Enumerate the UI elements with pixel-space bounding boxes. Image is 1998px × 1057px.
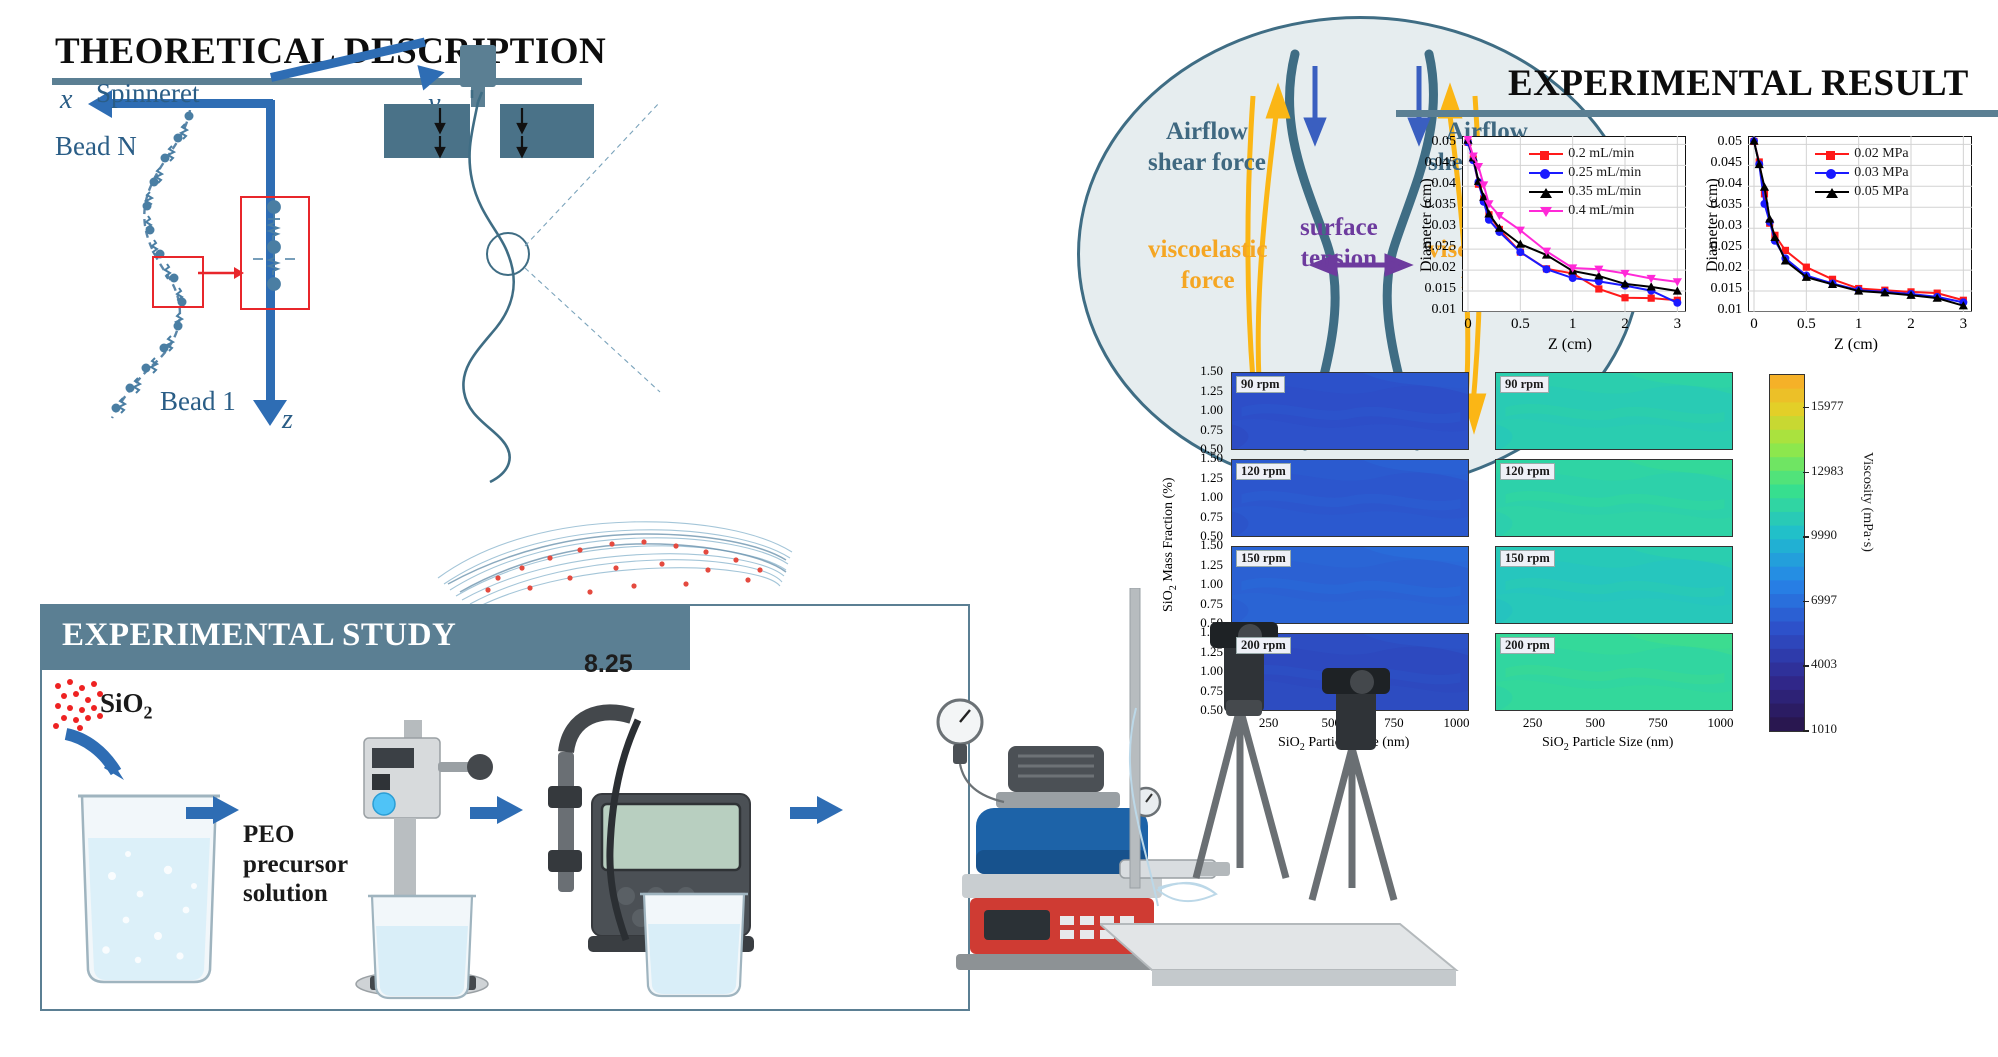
viscosity-colorbar: [1769, 374, 1805, 732]
flow-arrow-3: [817, 796, 843, 824]
legend-label: 0.25 mL/min: [1568, 165, 1641, 181]
legend-marker: [1826, 151, 1835, 160]
contour-panel: 150 rpm: [1495, 546, 1733, 624]
contour-y-tick-label: 1.25: [1179, 383, 1223, 399]
x-tick-label: 2: [1603, 316, 1647, 333]
flow-arrow-1: [213, 796, 239, 824]
colorbar-tick-mark: [1803, 536, 1809, 538]
legend-marker: [1826, 169, 1836, 179]
legend-label: 0.4 mL/min: [1568, 203, 1634, 219]
nanofiber-jet-path: [360, 40, 680, 510]
contour-y-tick-label: 1.50: [1179, 537, 1223, 553]
y-axis-title: Diameter (cm): [1704, 178, 1722, 272]
peo-precursor-solution-label: PEO precursor solution: [243, 820, 348, 909]
bead-zoom-region-box: [152, 256, 204, 308]
legend-line: [1529, 210, 1563, 212]
legend-entry: 0.35 mL/min: [1529, 182, 1641, 201]
x-tick-label: 0.5: [1498, 316, 1542, 333]
flow-arrow-1-bar: [186, 807, 214, 819]
legend-marker: [1540, 188, 1552, 198]
bead-spring-detail-icon: [243, 199, 305, 305]
flow-arrow-2: [497, 796, 523, 824]
spinneret-label: Spinneret: [96, 78, 199, 109]
x-tick-label: 3: [1941, 316, 1985, 333]
legend-line: [1529, 191, 1563, 193]
legend-marker: [1540, 169, 1550, 179]
contour-panel: 90 rpm: [1495, 372, 1733, 450]
experimental-result-section-title: EXPERIMENTAL RESULT: [1508, 62, 1969, 105]
contour-panel-tag: 90 rpm: [1500, 376, 1549, 393]
experimental-study-section-title: EXPERIMENTAL STUDY: [62, 617, 456, 654]
contour-panel-tag: 150 rpm: [1500, 550, 1555, 567]
contour-panel-tag: 90 rpm: [1236, 376, 1285, 393]
legend-label: 0.2 mL/min: [1568, 146, 1634, 162]
y-tick-label: 0.045: [1690, 155, 1742, 171]
legend-line: [1815, 191, 1849, 193]
airflow-shear-force-left-label: Airflowshear force: [1148, 116, 1266, 179]
x-axis-title: Z (cm): [1834, 336, 1878, 354]
flow-arrow-3-bar: [790, 807, 818, 819]
colorbar-title: Viscosity (mPa·s): [1859, 452, 1875, 552]
legend-line: [1815, 172, 1849, 174]
legend-entry: 0.03 MPa: [1815, 163, 1908, 182]
legend-line: [1815, 153, 1849, 155]
contour-panel: 200 rpm: [1495, 633, 1733, 711]
colorbar-tick-label: 15977: [1811, 398, 1844, 414]
contour-x-axis-title: SiO2 Particle Size (nm): [1542, 735, 1673, 753]
ph-meter-reading: 8.25: [584, 650, 633, 679]
colorbar-tick-label: 12983: [1811, 463, 1844, 479]
contour-y-tick-label: 0.75: [1179, 422, 1223, 438]
chart-legend: 0.02 MPa0.03 MPa0.05 MPa: [1815, 144, 1908, 201]
legend-label: 0.02 MPa: [1854, 146, 1908, 162]
colorbar-tick-mark: [1803, 407, 1809, 409]
x-tick-label: 0.5: [1784, 316, 1828, 333]
contour-y-tick-label: 1.00: [1179, 402, 1223, 418]
y-tick-label: 0.05: [1690, 134, 1742, 150]
surface-tension-label: surfacetension: [1300, 212, 1378, 275]
contour-panel-tag: 200 rpm: [1236, 637, 1291, 654]
x-tick-label: 1: [1837, 316, 1881, 333]
sio2-label: SiO2: [100, 688, 153, 723]
nanofiber-mat-illustration: [430, 500, 800, 615]
y-tick-label: 0.015: [1404, 281, 1456, 297]
axis-x-label: x: [60, 84, 72, 116]
contour-x-tick-label: 750: [1632, 715, 1684, 731]
contour-x-tick-label: 500: [1569, 715, 1621, 731]
contour-y-tick-label: 1.25: [1179, 470, 1223, 486]
legend-line: [1529, 172, 1563, 174]
colorbar-tick-mark: [1803, 601, 1809, 603]
legend-label: 0.03 MPa: [1854, 165, 1908, 181]
x-tick-label: 0: [1732, 316, 1776, 333]
colorbar-tick-label: 6997: [1811, 592, 1837, 608]
legend-marker: [1540, 207, 1552, 217]
axis-z-label: z: [282, 404, 293, 436]
experimental-result-title-rule: [1396, 110, 1998, 117]
legend-marker: [1826, 188, 1838, 198]
chart-legend: 0.2 mL/min0.25 mL/min0.35 mL/min0.4 mL/m…: [1529, 144, 1641, 220]
contour-y-tick-label: 0.75: [1179, 509, 1223, 525]
contour-panel-tag: 150 rpm: [1236, 550, 1291, 567]
colorbar-tick-mark: [1803, 730, 1809, 732]
ph-beaker: [634, 890, 754, 1010]
contour-panel: 90 rpm: [1231, 372, 1469, 450]
legend-entry: 0.02 MPa: [1815, 144, 1908, 163]
x-tick-label: 2: [1889, 316, 1933, 333]
y-tick-label: 0.015: [1690, 281, 1742, 297]
x-tick-label: 1: [1551, 316, 1595, 333]
chart-diameter-vs-z-flowrate: 0.010.0150.020.0250.030.0350.040.0450.05…: [1404, 128, 1694, 358]
contour-x-tick-label: 250: [1507, 715, 1559, 731]
contour-y-tick-label: 1.50: [1179, 363, 1223, 379]
bead-zoom-detail-box: [240, 196, 310, 310]
contour-panel-tag: 200 rpm: [1500, 637, 1555, 654]
legend-entry: 0.2 mL/min: [1529, 144, 1641, 163]
contour-panel: 120 rpm: [1231, 459, 1469, 537]
mixing-arrow-icon: [60, 728, 130, 784]
chart-diameter-vs-z-pressure: 0.010.0150.020.0250.030.0350.040.0450.05…: [1690, 128, 1980, 358]
contour-y-tick-label: 1.00: [1179, 489, 1223, 505]
legend-label: 0.05 MPa: [1854, 184, 1908, 200]
contour-y-tick-label: 1.25: [1179, 557, 1223, 573]
colorbar-tick-label: 1010: [1811, 721, 1837, 737]
colorbar-tick-label: 9990: [1811, 527, 1837, 543]
colorbar-tick-mark: [1803, 472, 1809, 474]
contour-y-tick-label: 1.50: [1179, 450, 1223, 466]
pressure-gauge-icon: [920, 692, 1040, 812]
x-tick-label: 0: [1446, 316, 1490, 333]
stirrer-beaker: [362, 892, 482, 1010]
contour-x-tick-label: 1000: [1694, 715, 1746, 731]
legend-marker: [1540, 151, 1549, 160]
contour-panel-tag: 120 rpm: [1236, 463, 1291, 480]
y-axis-title: Diameter (cm): [1418, 178, 1436, 272]
legend-entry: 0.4 mL/min: [1529, 201, 1641, 220]
y-tick-label: 0.05: [1404, 134, 1456, 150]
zoom-arrow-icon: [198, 266, 244, 280]
colorbar-tick-mark: [1803, 665, 1809, 667]
viscoelastic-force-left-label: viscoelasticforce: [1148, 234, 1267, 297]
contour-panel-tag: 120 rpm: [1500, 463, 1555, 480]
legend-label: 0.35 mL/min: [1568, 184, 1641, 200]
legend-line: [1529, 153, 1563, 155]
x-axis-title: Z (cm): [1548, 336, 1592, 354]
contour-panel: 120 rpm: [1495, 459, 1733, 537]
y-tick-label: 0.045: [1404, 155, 1456, 171]
colorbar-tick-label: 4003: [1811, 656, 1837, 672]
legend-entry: 0.05 MPa: [1815, 182, 1908, 201]
flow-arrow-2-bar: [470, 807, 498, 819]
legend-entry: 0.25 mL/min: [1529, 163, 1641, 182]
